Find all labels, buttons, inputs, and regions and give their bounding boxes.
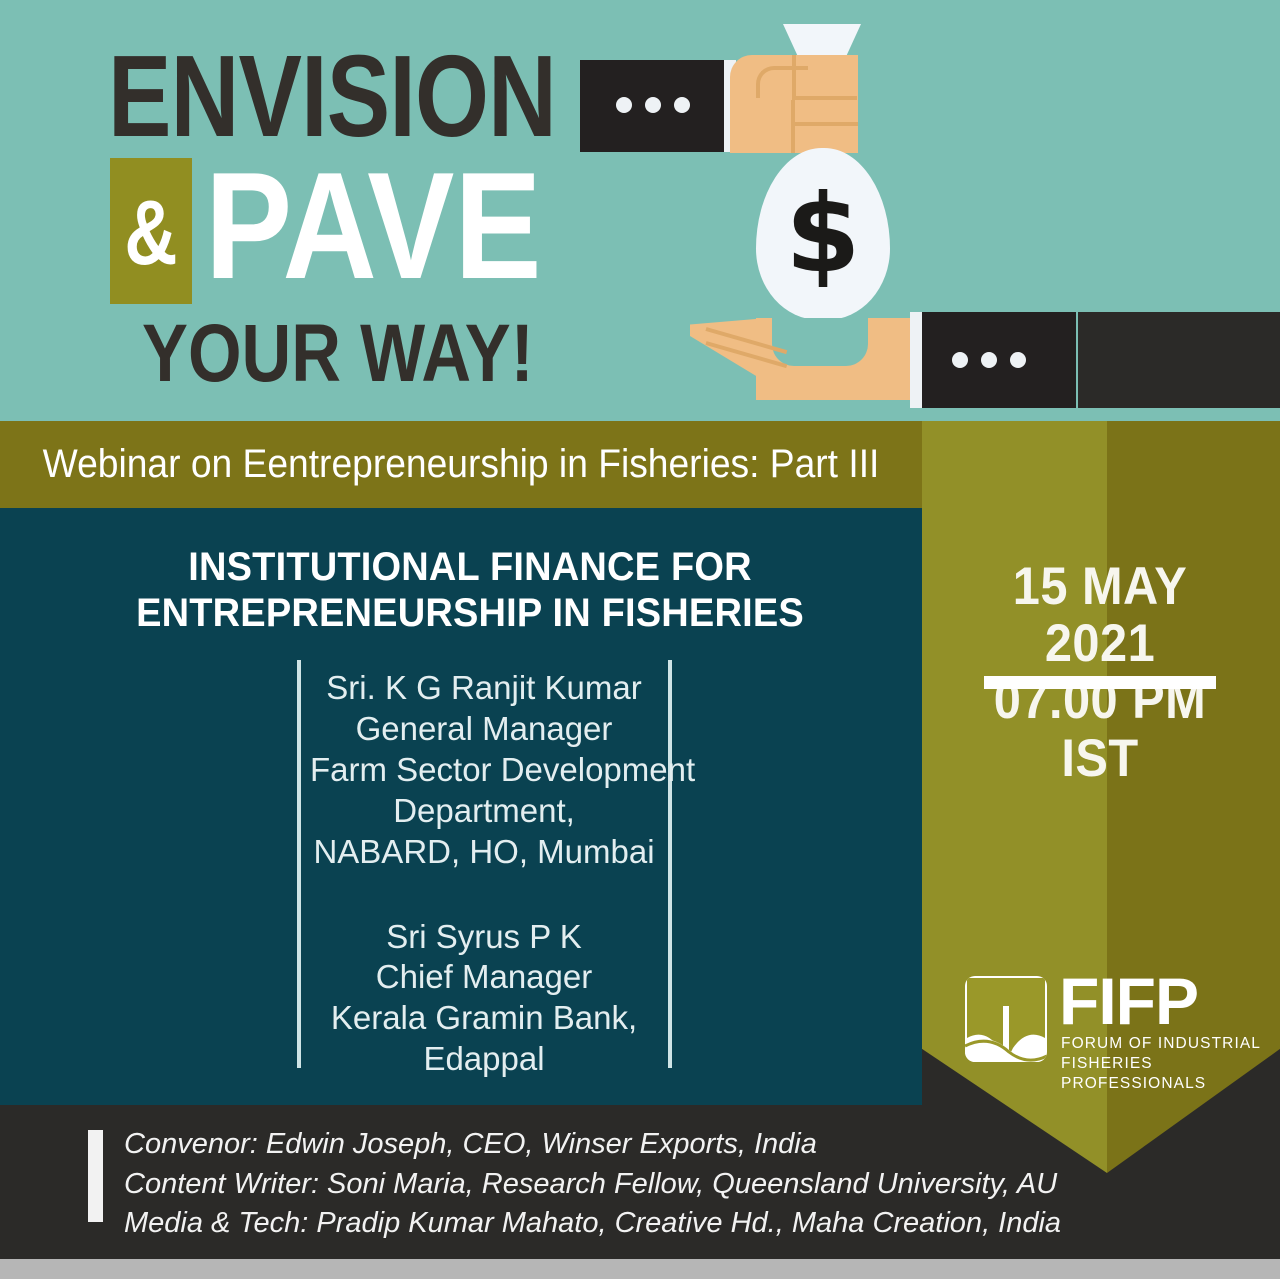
schedule-block: 15 MAY 2021 07.00 PM IST xyxy=(967,558,1234,787)
giving-hand-line-2 xyxy=(795,96,857,100)
credit-media-tech: Media & Tech: Pradip Kumar Mahato, Creat… xyxy=(124,1204,944,1244)
lower-suit-arm-icon xyxy=(1078,312,1280,408)
speaker-divider-left xyxy=(297,660,301,1068)
speaker-name: Sri Syrus P K xyxy=(310,917,658,958)
speaker-divider-right xyxy=(668,660,672,1068)
giving-hand-thumb-icon xyxy=(756,66,808,98)
credit-convenor: Convenor: Edwin Joseph, CEO, Winser Expo… xyxy=(124,1125,944,1165)
speaker-department-line-1: Kerala Gramin Bank, xyxy=(310,998,658,1039)
receiving-hand-notch xyxy=(772,318,868,366)
credit-content-writer: Content Writer: Soni Maria, Research Fel… xyxy=(124,1165,944,1205)
ampersand-glyph: & xyxy=(118,163,184,303)
event-time: 07.00 PM IST xyxy=(967,672,1234,786)
upper-sleeve-buttons-icon xyxy=(616,97,690,113)
schedule-underline xyxy=(984,676,1216,689)
webinar-topic-title: INSTITUTIONAL FINANCE FOR ENTREPRENEURSH… xyxy=(81,545,860,636)
speaker-department-line-1: Farm Sector Development xyxy=(310,750,658,791)
giving-hand-line-4 xyxy=(791,100,795,153)
speaker-designation: General Manager xyxy=(310,709,658,750)
headline-pave: PAVE xyxy=(205,150,542,302)
speaker-department-line-2: Department, xyxy=(310,791,658,832)
speaker-name: Sri. K G Ranjit Kumar xyxy=(310,668,658,709)
headline-group: ENVISION & PAVE YOUR WAY! xyxy=(0,0,620,421)
speaker-department-line-2: Edappal xyxy=(310,1039,658,1080)
event-date: 15 MAY 2021 xyxy=(967,558,1234,672)
speaker-card: Sri. K G Ranjit Kumar General Manager Fa… xyxy=(310,668,658,873)
lower-sleeve-buttons-icon xyxy=(952,352,1026,368)
fish-tail-logo-icon xyxy=(965,976,1047,1062)
giving-hand-line-3 xyxy=(792,122,858,126)
dollar-sign-icon: $ xyxy=(756,160,890,310)
speaker-organization: NABARD, HO, Mumbai xyxy=(310,832,658,873)
fifp-logo: FIFP FORUM OF INDUSTRIAL FISHERIES PROFE… xyxy=(965,968,1255,1078)
speaker-list: Sri. K G Ranjit Kumar General Manager Fa… xyxy=(310,668,658,1080)
headline-your-way: YOUR WAY! xyxy=(142,313,534,395)
logo-subtitle-line-2: FISHERIES PROFESSIONALS xyxy=(1061,1054,1261,1094)
lower-sleeve-cuff-icon xyxy=(910,312,922,408)
speaker-designation: Chief Manager xyxy=(310,957,658,998)
webinar-series-title: Webinar on Eentrepreneurship in Fisherie… xyxy=(32,421,889,508)
logo-subtitle-line-1: FORUM OF INDUSTRIAL xyxy=(1061,1034,1261,1054)
speaker-card: Sri Syrus P K Chief Manager Kerala Grami… xyxy=(310,917,658,1081)
credits-accent-bar xyxy=(88,1130,103,1222)
credits-block: Convenor: Edwin Joseph, CEO, Winser Expo… xyxy=(124,1125,944,1244)
logo-acronym: FIFP xyxy=(1059,968,1198,1034)
money-exchange-illustration: $ xyxy=(560,0,1280,421)
poster-root: ENVISION & PAVE YOUR WAY! $ Webinar on E… xyxy=(0,0,1280,1279)
headline-envision: ENVISION xyxy=(108,38,556,154)
bottom-strip xyxy=(0,1259,1280,1279)
money-bag-neck-icon xyxy=(783,24,861,58)
giving-hand-line-1 xyxy=(792,55,796,100)
logo-subtitle: FORUM OF INDUSTRIAL FISHERIES PROFESSION… xyxy=(1061,1034,1261,1093)
